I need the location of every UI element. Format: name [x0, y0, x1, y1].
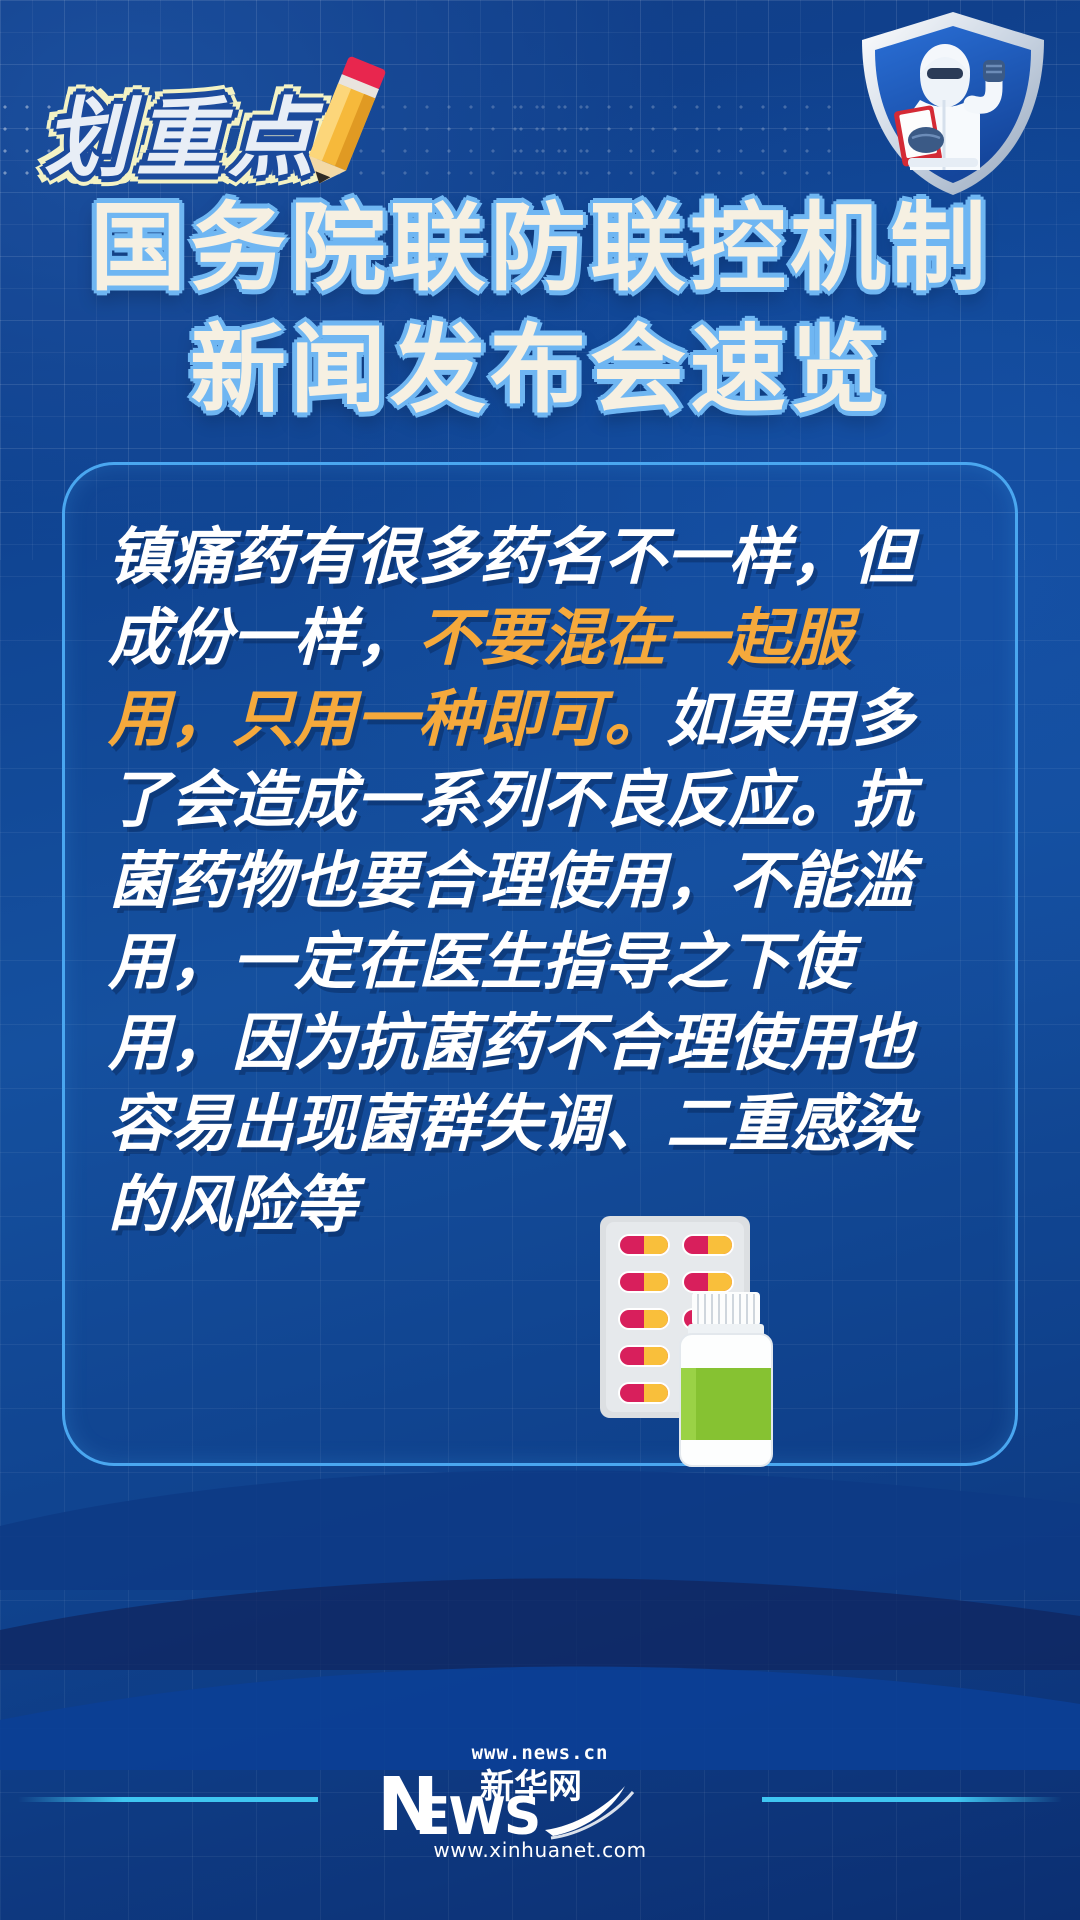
footer: www.news.cn N EWS 新华网 www.xinhuanet.com: [0, 1720, 1080, 1920]
body-text-9-1: 的风险等: [108, 1168, 356, 1241]
body-text-6-1: 用，一定在医生指导之下使: [108, 925, 852, 998]
body-line-4: 了会造成一系列不良反应。抗: [108, 759, 786, 840]
medicine-bottle-icon: [666, 1290, 786, 1470]
body-text-5-1: 菌药物也要合理使用，不能滥: [108, 844, 914, 917]
xinhua-logo[interactable]: N EWS 新华网 www.xinhuanet.com: [375, 1768, 705, 1868]
page-title: 国务院联防联控机制 新闻发布会速览: [0, 196, 1080, 423]
body-text-1-1: 镇痛药有很多药名不一样，但: [108, 520, 914, 593]
body-line-7: 用，因为抗菌药不合理使用也: [108, 1002, 786, 1083]
body-text-8-1: 容易出现菌群失调、二重感染: [108, 1087, 914, 1160]
wave-decoration-mid: [0, 1520, 1080, 1670]
shield-medic-icon: [848, 6, 1058, 201]
body-highlight-3-1: 用，只用一种即可。: [108, 682, 666, 755]
footer-site-short: www.news.cn: [0, 1742, 1080, 1764]
body-paragraph: 镇痛药有很多药名不一样，但成份一样，不要混在一起服用，只用一种即可。如果用多了会…: [108, 516, 786, 1245]
body-line-5: 菌药物也要合理使用，不能滥: [108, 840, 786, 921]
body-highlight-2-2: 不要混在一起服: [418, 601, 852, 674]
xinhua-logo-mark: N EWS 新华网: [375, 1768, 705, 1840]
logo-chinese: 新华网: [480, 1768, 582, 1807]
body-text-4-1: 了会造成一系列不良反应。抗: [108, 763, 914, 836]
body-line-3: 用，只用一种即可。如果用多: [108, 678, 786, 759]
highlight-tag-label: 划重点: [44, 68, 320, 193]
body-text-3-2: 如果用多: [666, 682, 914, 755]
title-line-1: 国务院联防联控机制: [0, 196, 1080, 302]
pencil-icon: [288, 52, 398, 192]
footer-site-full: www.xinhuanet.com: [375, 1838, 705, 1862]
body-line-1: 镇痛药有很多药名不一样，但: [108, 516, 786, 597]
poster-canvas: 划重点: [0, 0, 1080, 1920]
body-line-6: 用，一定在医生指导之下使: [108, 921, 786, 1002]
body-line-8: 容易出现菌群失调、二重感染: [108, 1083, 786, 1164]
body-text-7-1: 用，因为抗菌药不合理使用也: [108, 1006, 914, 1079]
title-line-2: 新闻发布会速览: [0, 318, 1080, 424]
body-text-2-1: 成份一样，: [108, 601, 418, 674]
body-line-2: 成份一样，不要混在一起服: [108, 597, 786, 678]
wave-decoration-upper: [0, 1430, 1080, 1590]
